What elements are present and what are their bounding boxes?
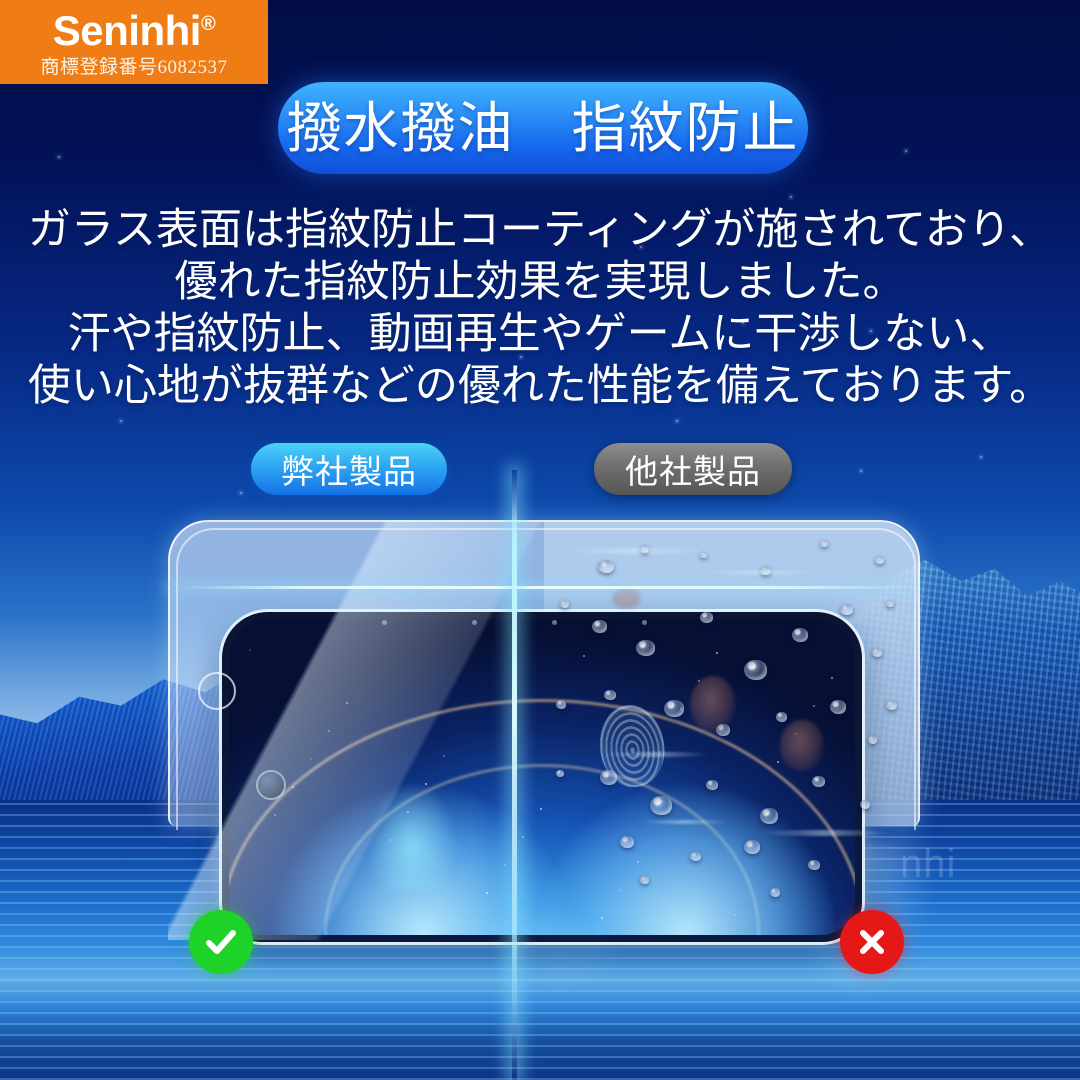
wallpaper-speck	[522, 836, 524, 838]
wallpaper-speck	[389, 839, 391, 841]
wallpaper-speck	[346, 702, 348, 704]
wallpaper-speck	[619, 889, 621, 891]
wallpaper-speck	[583, 655, 585, 657]
front-camera-lens	[258, 772, 284, 798]
label-our-product: 弊社製品	[251, 443, 447, 495]
label-other-product: 他社製品	[594, 443, 792, 495]
verdict-badge-fail	[840, 910, 904, 974]
light-beam-horizontal	[168, 586, 916, 589]
label-our-product-text: 弊社製品	[281, 445, 417, 493]
brand-watermark: nhi	[900, 842, 956, 887]
protector-camera-cutout	[198, 672, 236, 710]
phone-screen	[229, 619, 855, 935]
brand-name: Seninhi®	[53, 10, 215, 52]
wallpaper-speck	[777, 761, 779, 763]
cross-icon	[854, 924, 890, 960]
wallpaper-speck	[716, 652, 718, 654]
wallpaper-speck	[407, 811, 409, 813]
body-line-3: 汗や指紋防止、動画再生やゲームに干渉しない、	[0, 309, 1080, 361]
wallpaper-speck	[504, 864, 506, 866]
wallpaper-speck	[249, 649, 251, 651]
product-banner: Seninhi® 商標登録番号6082537 撥水撥油 指紋防止 ガラス表面は指…	[0, 0, 1080, 1080]
wallpaper-speck	[540, 808, 542, 810]
wallpaper-speck	[425, 783, 427, 785]
wallpaper-speck	[274, 814, 276, 816]
brand-badge: Seninhi® 商標登録番号6082537	[0, 0, 268, 84]
wallpaper-speck	[310, 758, 312, 760]
body-line-4: 使い心地が抜群などの優れた性能を備えております。	[0, 361, 1080, 413]
body-paragraph: ガラス表面は指紋防止コーティングが施されており、 優れた指紋防止効果を実現しまし…	[0, 205, 1080, 413]
registered-trademark-icon: ®	[201, 13, 215, 35]
trademark-number: 商標登録番号6082537	[40, 58, 227, 77]
sensor-dot-1	[382, 620, 387, 625]
body-line-1: ガラス表面は指紋防止コーティングが施されており、	[0, 205, 1080, 257]
smartphone	[222, 612, 862, 942]
wallpaper-speck	[698, 680, 700, 682]
wallpaper-speck	[734, 914, 736, 916]
wallpaper-speck	[292, 786, 294, 788]
label-other-product-text: 他社製品	[625, 445, 761, 493]
wallpaper-speck	[795, 733, 797, 735]
brand-name-text: Seninhi	[53, 7, 201, 54]
light-beam-vertical	[512, 470, 517, 1080]
verdict-badge-pass	[189, 910, 253, 974]
wallpaper-speck	[443, 755, 445, 757]
wallpaper-speck	[486, 892, 488, 894]
headline-text: 撥水撥油 指紋防止	[286, 101, 799, 156]
check-icon	[201, 922, 241, 962]
sensor-dot-4	[642, 620, 647, 625]
body-line-2: 優れた指紋防止効果を実現しました。	[0, 257, 1080, 309]
sensor-dot-2	[472, 620, 477, 625]
wallpaper-speck	[813, 705, 815, 707]
wallpaper-speck	[601, 917, 603, 919]
wallpaper-speck	[637, 861, 639, 863]
wallpaper-speck	[328, 730, 330, 732]
sensor-dot-3	[552, 620, 557, 625]
wallpaper-speck	[680, 708, 682, 710]
wallpaper-specks	[229, 619, 855, 935]
headline-pill: 撥水撥油 指紋防止	[278, 82, 808, 174]
wallpaper-speck	[831, 677, 833, 679]
